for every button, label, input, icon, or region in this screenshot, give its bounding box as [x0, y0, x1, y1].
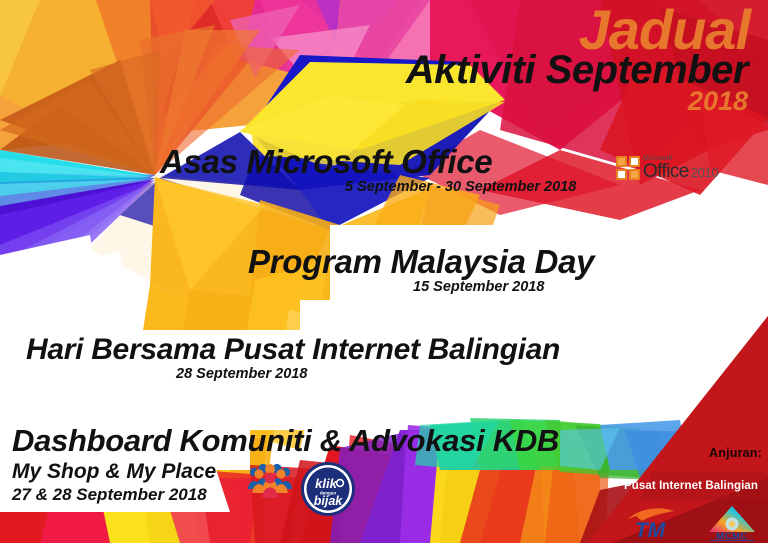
office-wordmark: Microsoft Office 2010	[643, 155, 718, 181]
event-title: Hari Bersama Pusat Internet Balingian	[26, 335, 560, 366]
svg-text:klik: klik	[315, 476, 337, 491]
community-people-icon	[247, 462, 293, 498]
microsoft-office-2010-logo: Microsoft Office 2010	[616, 155, 718, 181]
event-hari-bersama-pusat-internet-balingian: Hari Bersama Pusat Internet Balingian 28…	[26, 335, 560, 382]
event-date: 15 September 2018	[413, 280, 594, 295]
svg-text:MCMC: MCMC	[716, 531, 748, 541]
event-title: Dashboard Komuniti & Advokasi KDB	[12, 425, 559, 457]
sponsor-organizer-name: Pusat Internet Balingian	[624, 480, 758, 492]
event-date: 5 September - 30 September 2018	[345, 180, 576, 195]
poster-canvas: Jadual Aktiviti September 2018 Asas Micr…	[0, 0, 768, 543]
event-title: Program Malaysia Day	[248, 245, 594, 279]
svg-text:bijak: bijak	[314, 494, 344, 508]
sponsor-label: Anjuran:	[709, 446, 762, 460]
event-asas-microsoft-office: Asas Microsoft Office 5 September - 30 S…	[160, 145, 576, 195]
event-title: Asas Microsoft Office	[160, 145, 576, 179]
sponsor-logo-row: TM MCMC	[622, 505, 758, 541]
page-title-aktiviti-september: Aktiviti September	[406, 50, 748, 90]
tm-logo: TM	[622, 506, 680, 540]
office-product-text: Office	[643, 162, 689, 181]
event-program-malaysia-day: Program Malaysia Day 15 September 2018	[248, 245, 594, 295]
klik-dengan-bijak-logo: klik dengan bijak	[300, 461, 356, 517]
page-title-year: 2018	[688, 88, 748, 115]
office-squares-icon	[616, 156, 640, 180]
mcmc-logo: MCMC	[706, 505, 758, 541]
content-layer: Jadual Aktiviti September 2018 Asas Micr…	[0, 0, 768, 543]
event-date: 28 September 2018	[176, 367, 560, 382]
office-version-text: 2010	[691, 166, 719, 179]
svg-text:TM: TM	[635, 519, 666, 540]
